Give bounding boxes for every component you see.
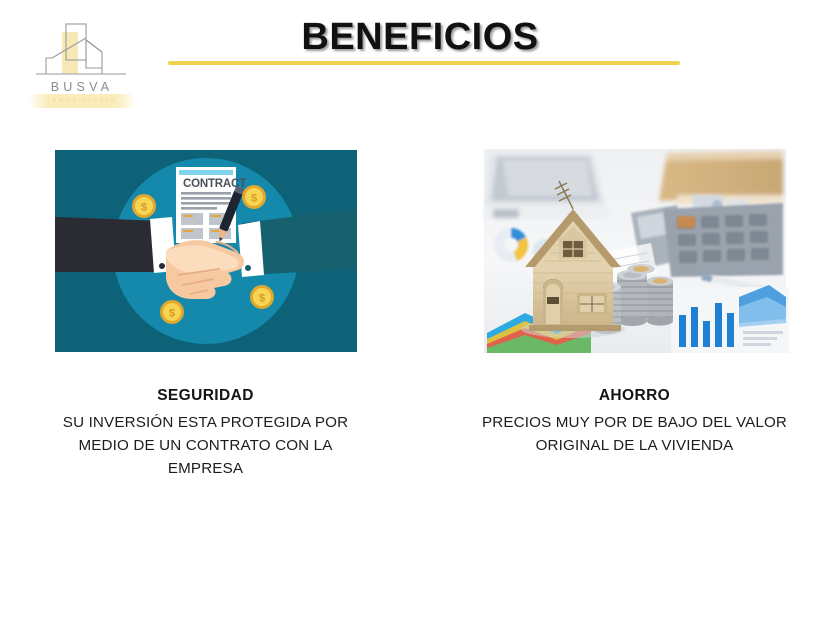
brand-tagline: INMOBILIARIA xyxy=(22,98,142,104)
benefits-row: CONTRACT xyxy=(0,147,840,480)
page-title: BENEFICIOS xyxy=(0,16,840,59)
benefit-heading: AHORRO xyxy=(470,387,800,405)
benefit-caption-seguridad: SEGURIDAD SU INVERSIÓN ESTA PROTEGIDA PO… xyxy=(41,387,371,480)
title-underline-rule xyxy=(168,61,680,65)
handshake-contract-illustration: CONTRACT xyxy=(52,147,360,355)
benefit-card-seguridad: CONTRACT xyxy=(51,147,361,480)
svg-text:$: $ xyxy=(250,193,256,205)
svg-text:$: $ xyxy=(258,293,264,305)
svg-text:$: $ xyxy=(140,202,146,214)
benefit-card-ahorro: AHORRO PRECIOS MUY POR DE BAJO DEL VALOR… xyxy=(480,147,790,480)
svg-text:$: $ xyxy=(168,308,174,320)
benefit-description: PRECIOS MUY POR DE BAJO DEL VALOR ORIGIN… xyxy=(470,411,800,457)
benefit-caption-ahorro: AHORRO PRECIOS MUY POR DE BAJO DEL VALOR… xyxy=(470,387,800,457)
benefit-heading: SEGURIDAD xyxy=(41,387,371,405)
brand-name: BUSVA xyxy=(22,80,142,94)
benefit-description: SU INVERSIÓN ESTA PROTEGIDA POR MEDIO DE… xyxy=(41,411,371,480)
house-model-coins-photo xyxy=(481,147,789,355)
